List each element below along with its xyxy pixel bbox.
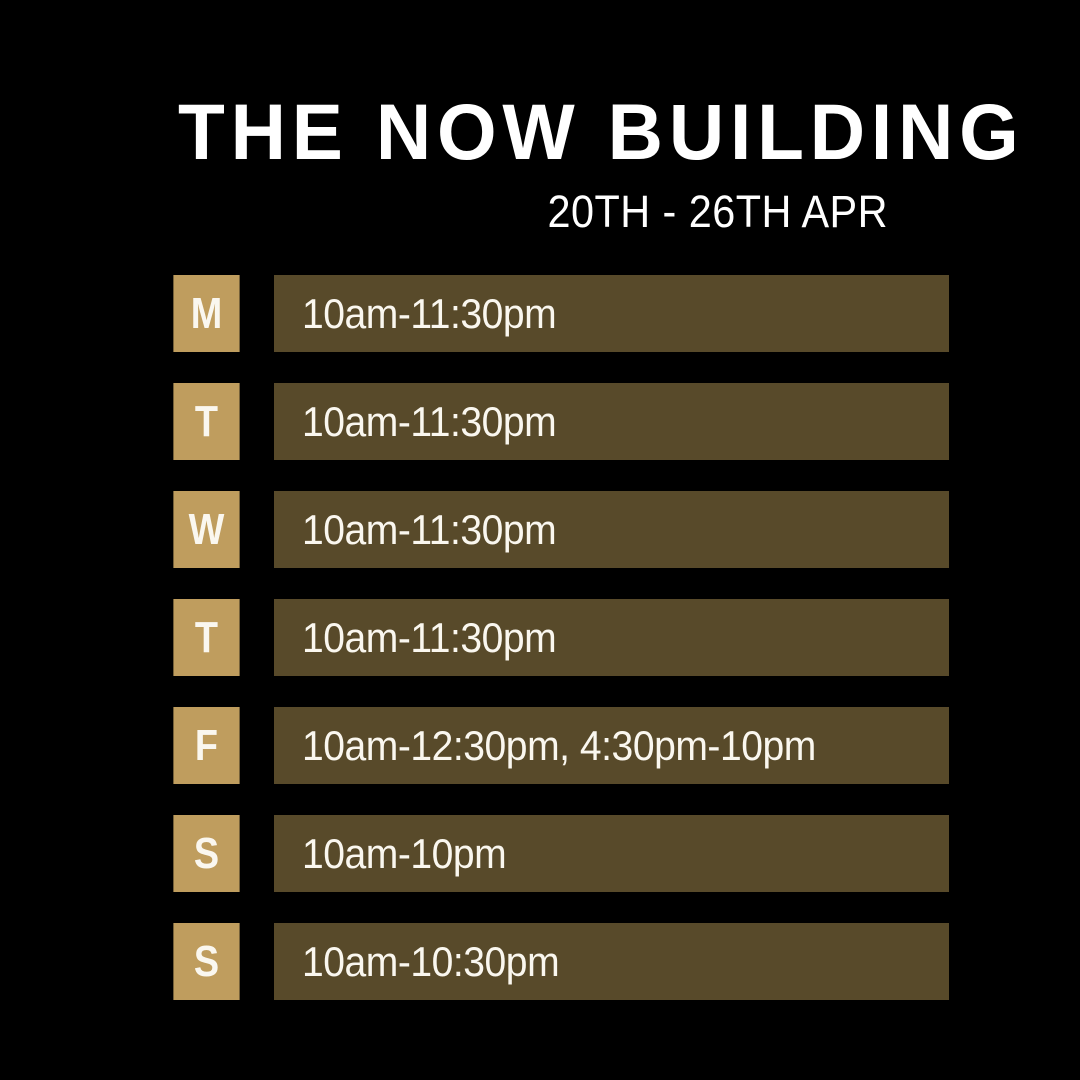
row-spacer bbox=[245, 707, 274, 784]
day-badge-friday: F bbox=[173, 707, 239, 784]
hours-bar-saturday: 10am-10pm bbox=[274, 815, 949, 892]
schedule-row-tuesday: T 10am-11:30pm bbox=[168, 383, 949, 460]
poster-canvas: THE NOW BUILDING 20TH - 26TH APR M 10am-… bbox=[0, 0, 1080, 1080]
row-spacer bbox=[245, 383, 274, 460]
hours-text-monday: 10am-11:30pm bbox=[302, 293, 556, 335]
hours-text-friday: 10am-12:30pm, 4:30pm-10pm bbox=[302, 725, 816, 767]
day-badge-sunday: S bbox=[173, 923, 239, 1000]
hours-bar-monday: 10am-11:30pm bbox=[274, 275, 949, 352]
day-badge-saturday: S bbox=[173, 815, 239, 892]
day-badge-thursday: T bbox=[173, 599, 239, 676]
hours-text-thursday: 10am-11:30pm bbox=[302, 617, 556, 659]
hours-text-tuesday: 10am-11:30pm bbox=[302, 401, 556, 443]
hours-bar-friday: 10am-12:30pm, 4:30pm-10pm bbox=[274, 707, 949, 784]
day-badge-wednesday: W bbox=[173, 491, 239, 568]
row-spacer bbox=[245, 599, 274, 676]
date-range-label: 20TH - 26TH APR bbox=[235, 189, 888, 234]
row-spacer bbox=[245, 815, 274, 892]
schedule-row-thursday: T 10am-11:30pm bbox=[168, 599, 949, 676]
day-badge-monday: M bbox=[173, 275, 239, 352]
hours-bar-tuesday: 10am-11:30pm bbox=[274, 383, 949, 460]
opening-times-schedule: M 10am-11:30pm T 10am-11:30pm W 10am-11:… bbox=[168, 275, 949, 1000]
hours-bar-sunday: 10am-10:30pm bbox=[274, 923, 949, 1000]
hours-text-wednesday: 10am-11:30pm bbox=[302, 509, 556, 551]
schedule-row-friday: F 10am-12:30pm, 4:30pm-10pm bbox=[168, 707, 949, 784]
hours-text-saturday: 10am-10pm bbox=[302, 833, 506, 875]
day-badge-tuesday: T bbox=[173, 383, 239, 460]
poster-header: THE NOW BUILDING 20TH - 26TH APR bbox=[178, 96, 888, 234]
hours-bar-thursday: 10am-11:30pm bbox=[274, 599, 949, 676]
schedule-row-wednesday: W 10am-11:30pm bbox=[168, 491, 949, 568]
row-spacer bbox=[245, 491, 274, 568]
schedule-row-sunday: S 10am-10:30pm bbox=[168, 923, 949, 1000]
hours-bar-wednesday: 10am-11:30pm bbox=[274, 491, 949, 568]
row-spacer bbox=[245, 923, 274, 1000]
schedule-row-monday: M 10am-11:30pm bbox=[168, 275, 949, 352]
row-spacer bbox=[245, 275, 274, 352]
page-title: THE NOW BUILDING bbox=[178, 96, 867, 169]
hours-text-sunday: 10am-10:30pm bbox=[302, 941, 559, 983]
schedule-row-saturday: S 10am-10pm bbox=[168, 815, 949, 892]
